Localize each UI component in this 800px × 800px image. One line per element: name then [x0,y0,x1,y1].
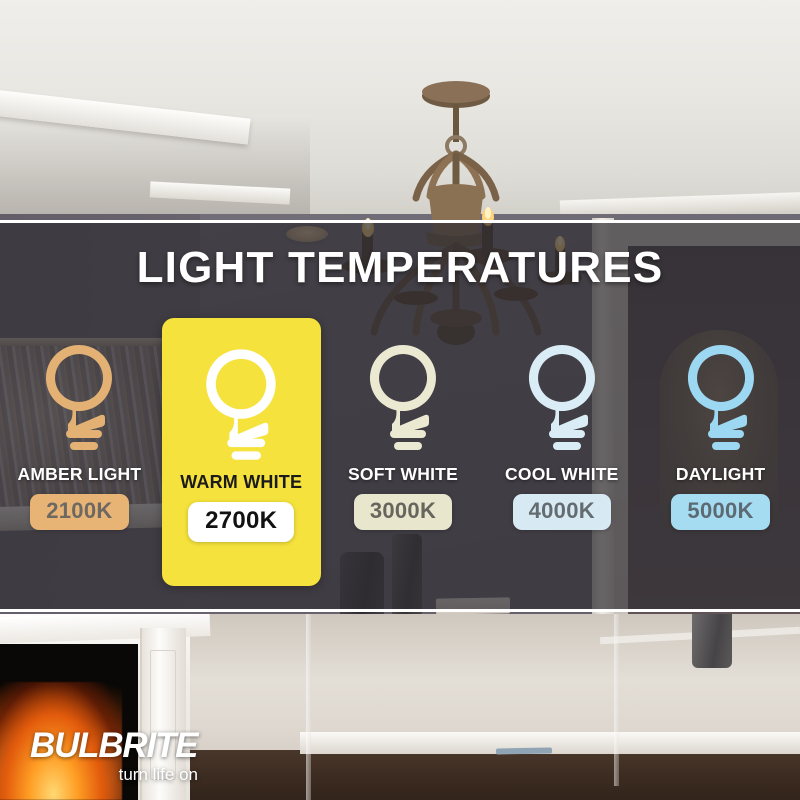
kelvin-badge: 2700K [188,502,294,542]
decor-vase-lower [692,614,732,668]
temperature-column-cool-white[interactable]: COOL WHITE 4000K [482,318,641,586]
temperature-column-amber-light[interactable]: AMBER LIGHT 2100K [0,318,159,586]
brand-wordmark: BULBRITE [30,728,270,763]
lightbulb-icon [182,336,300,470]
lightbulb-icon [506,332,618,460]
brand-tagline: turn life on [30,766,198,783]
temperature-label: COOL WHITE [505,464,618,485]
temperature-label: SOFT WHITE [348,464,458,485]
temperature-column-soft-white[interactable]: SOFT WHITE 3000K [324,318,483,586]
kelvin-badge: 3000K [354,494,452,530]
temperature-scale: AMBER LIGHT 2100K WARM WHITE 2700K [0,318,800,586]
lightbulb-icon [23,332,135,460]
page-title: LIGHT TEMPERATURES [0,246,800,290]
decor-tray [496,748,552,755]
temperature-column-warm-white[interactable]: WARM WHITE 2700K [162,318,321,586]
temperature-label: WARM WHITE [180,472,302,493]
temperature-label: AMBER LIGHT [18,464,142,485]
kelvin-badge: 5000K [671,494,769,530]
lightbulb-icon [347,332,459,460]
lightbulb-icon [665,332,777,460]
kelvin-badge: 4000K [513,494,611,530]
console-table-leg-left [306,614,311,800]
temperature-label: DAYLIGHT [676,464,765,485]
temperature-column-daylight[interactable]: DAYLIGHT 5000K [641,318,800,586]
brand-logo[interactable]: BULBRITE turn life on [30,728,270,783]
kelvin-badge: 2100K [30,494,128,530]
